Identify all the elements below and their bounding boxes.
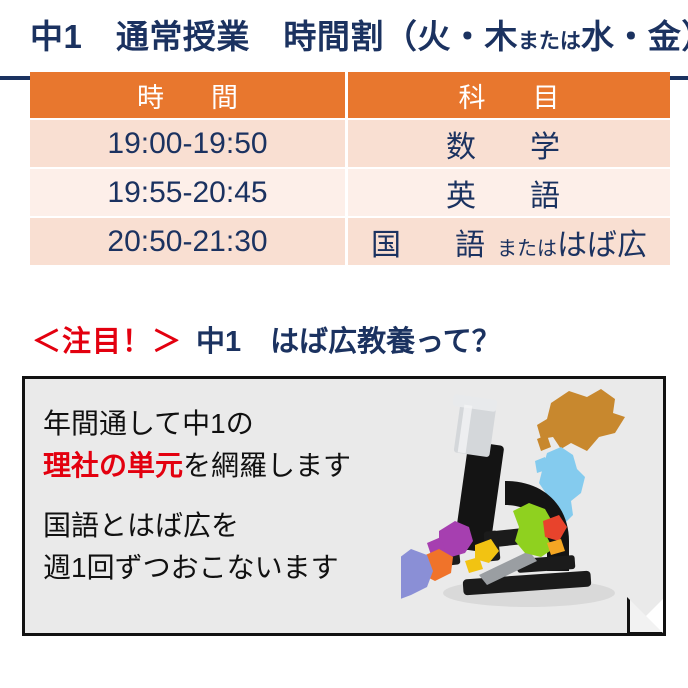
note-line-3: 国語とはば広を <box>43 505 443 547</box>
cell-subject-conjunction: または <box>497 238 557 260</box>
cell-subject: 国 語またははば広 <box>348 216 670 265</box>
column-header-subject: 科 目 <box>348 72 670 118</box>
page-title-small: または <box>518 30 581 53</box>
cell-subject-main: 国 語 <box>371 229 497 262</box>
cell-subject-main: 英 語 <box>446 180 572 213</box>
timetable-header-row: 時 間 科 目 <box>30 72 670 118</box>
table-row: 20:50-21:30 国 語またははば広 <box>30 216 670 265</box>
attention-badge: ＜注目！＞ <box>32 326 182 358</box>
note-emphasis: 理社の単元 <box>43 450 183 481</box>
note-line-2-rest: を網羅します <box>183 450 351 481</box>
cell-time: 19:55-20:45 <box>30 167 348 216</box>
cell-subject: 英 語 <box>348 167 670 216</box>
table-row: 19:00-19:50 数 学 <box>30 118 670 167</box>
table-row: 19:55-20:45 英 語 <box>30 167 670 216</box>
note-line-1: 年間通して中1の <box>43 403 443 445</box>
page-title-tail: 水・金） <box>581 18 688 55</box>
map-piece-hokkaido <box>537 389 625 451</box>
note-line-2: 理社の単元を網羅します <box>43 445 443 487</box>
cell-subject-main: 数 学 <box>446 131 572 164</box>
attention-heading: ＜注目！＞中1 はば広教養って？ <box>32 322 501 362</box>
note-text-block: 年間通して中1の 理社の単元を網羅します 国語とはば広を 週1回ずつおこないます <box>43 403 443 589</box>
column-header-time: 時 間 <box>30 72 348 118</box>
page-title-main: 中1 通常授業 時間割（火・木 <box>30 18 518 55</box>
cell-subject: 数 学 <box>348 118 670 167</box>
title-block: 中1 通常授業 時間割（火・木または水・金） <box>0 14 688 62</box>
cell-time: 19:00-19:50 <box>30 118 348 167</box>
cell-time: 20:50-21:30 <box>30 216 348 265</box>
cell-subject-alt: はば広 <box>557 229 647 262</box>
note-spacer <box>43 487 443 505</box>
note-card: 年間通して中1の 理社の単元を網羅します 国語とはば広を 週1回ずつおこないます <box>22 376 666 636</box>
page-title: 中1 通常授業 時間割（火・木または水・金） <box>30 14 688 65</box>
microscope-icon <box>401 385 651 627</box>
note-line-4: 週1回ずつおこないます <box>43 547 443 589</box>
attention-question: 中1 はば広教養って？ <box>196 326 501 358</box>
timetable: 時 間 科 目 19:00-19:50 数 学 19:55-20:45 英 語 … <box>30 72 670 265</box>
